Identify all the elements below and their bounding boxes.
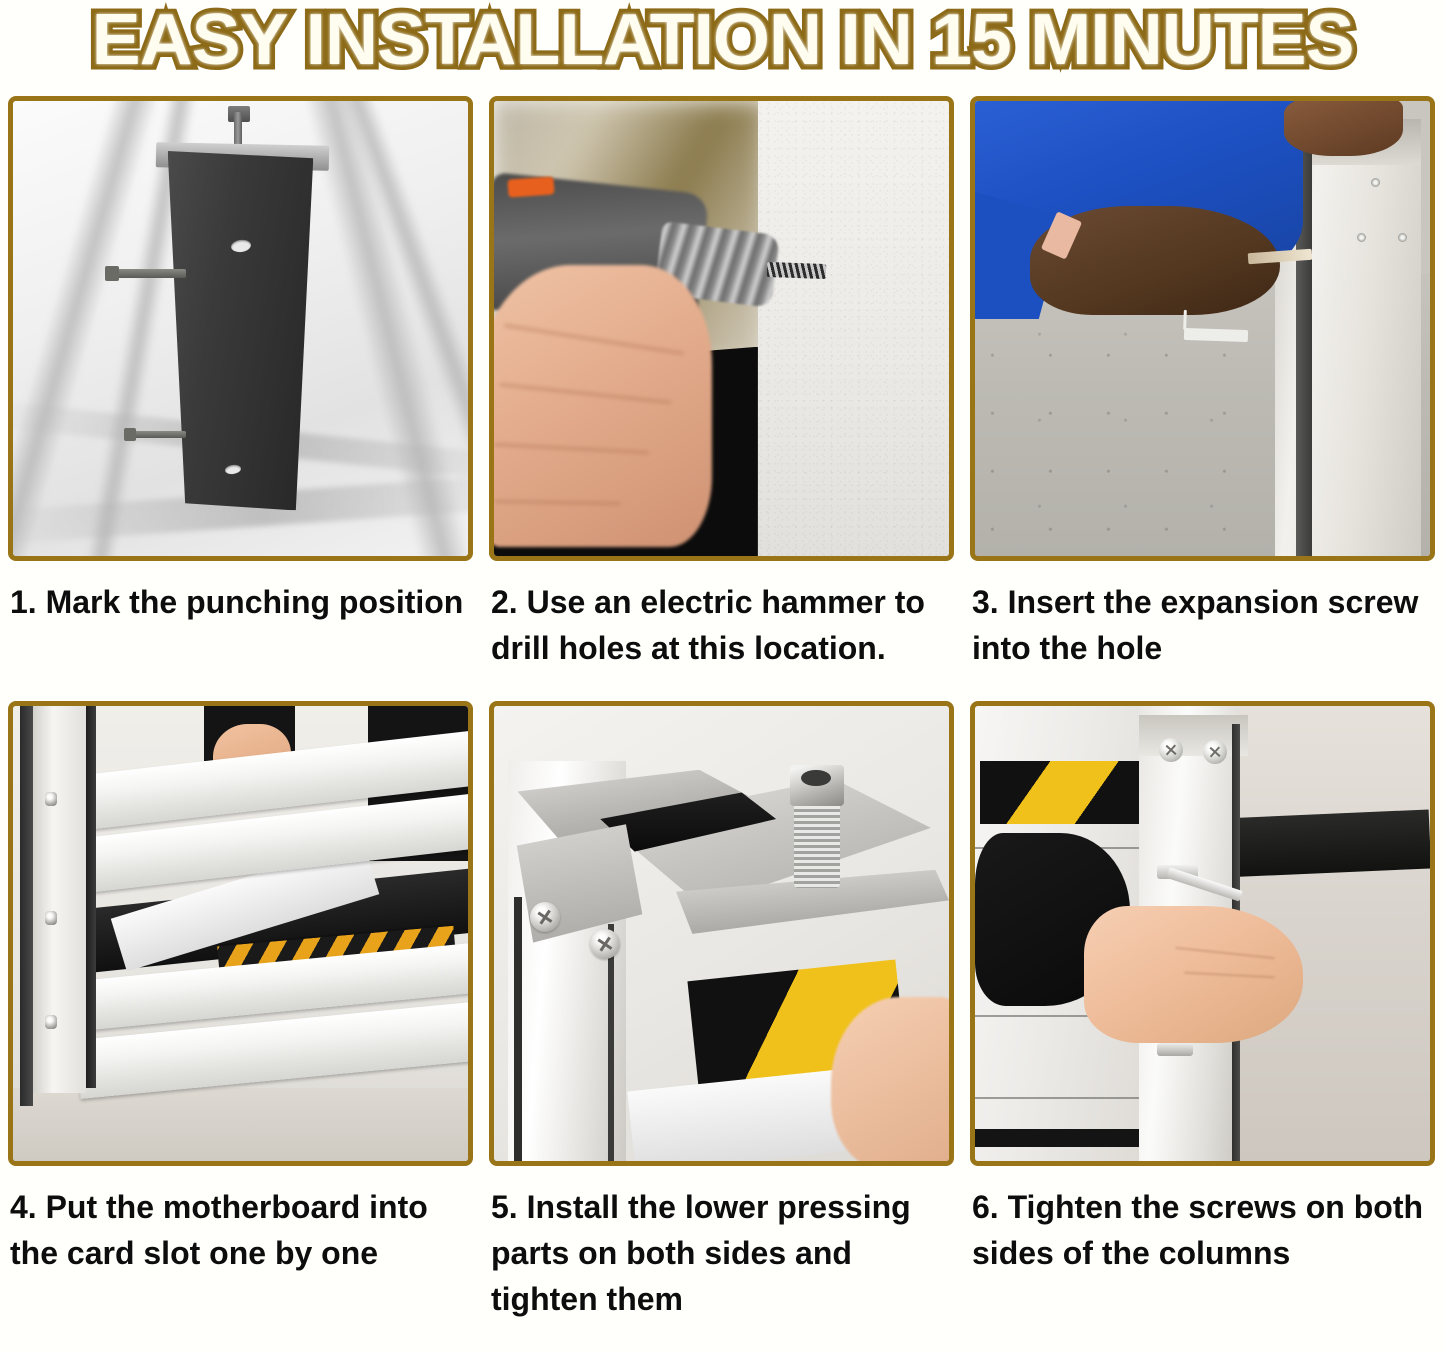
step-photo-3: [970, 96, 1435, 561]
column-edge: [20, 706, 34, 1106]
installation-steps-grid: 1. Mark the punching position: [0, 96, 1445, 1312]
column-edge: [86, 706, 96, 1088]
step-card-5: 5. Install the lower pressing parts on b…: [481, 701, 962, 1312]
photo-marking-position: [13, 101, 468, 556]
step-caption-5: 5. Install the lower pressing parts on b…: [489, 1166, 959, 1312]
photo-boards-into-slot: [13, 706, 468, 1161]
photo-tighten-screws: [975, 706, 1430, 1161]
step-photo-6: [970, 701, 1435, 1166]
column-screw: [45, 911, 57, 925]
wall-surface: [758, 101, 949, 556]
photo-lower-pressing-parts: [494, 706, 949, 1161]
photo-drilling-wall: [494, 101, 949, 556]
card-slot-column: [31, 706, 86, 1093]
step-caption-4: 4. Put the motherboard into the card slo…: [8, 1166, 478, 1312]
phillips-screw: [1159, 738, 1183, 762]
hand: [1284, 101, 1402, 156]
step-card-2: 2. Use an electric hammer to drill holes…: [481, 96, 962, 701]
step-caption-3: 3. Insert the expansion screw into the h…: [970, 561, 1440, 701]
step-photo-1: [8, 96, 473, 561]
phillips-screw: [530, 902, 560, 932]
step-photo-5: [489, 701, 954, 1166]
mounting-column: [168, 151, 314, 510]
column-edge: [514, 897, 521, 1161]
floor: [13, 1088, 468, 1161]
step-caption-6: 6. Tighten the screws on both sides of t…: [970, 1166, 1440, 1312]
hex-bolt-socket: [801, 770, 831, 786]
page-title-bar: EASY INSTALLATION IN 15 MINUTES: [0, 0, 1445, 96]
drill-bit: [767, 261, 827, 278]
panel-seam: [975, 1097, 1157, 1099]
allen-key-on-floor: [1184, 327, 1248, 341]
phillips-screw: [590, 929, 620, 959]
step-photo-4: [8, 701, 473, 1166]
step-caption-2: 2. Use an electric hammer to drill holes…: [489, 561, 959, 701]
step-photo-2: [489, 96, 954, 561]
step-card-6: 6. Tighten the screws on both sides of t…: [962, 701, 1443, 1312]
step-card-1: 1. Mark the punching position: [0, 96, 481, 701]
steps-row-2: 4. Put the motherboard into the card slo…: [0, 701, 1445, 1312]
step-card-4: 4. Put the motherboard into the card slo…: [0, 701, 481, 1312]
step-caption-1: 1. Mark the punching position: [8, 561, 478, 701]
hand: [1084, 906, 1302, 1043]
column-screw: [45, 1015, 57, 1029]
drill-trigger: [507, 177, 554, 198]
dark-base-strip: [975, 1129, 1148, 1147]
phillips-screw: [1203, 740, 1227, 764]
photo-insert-expansion-screw: [975, 101, 1430, 556]
page-title: EASY INSTALLATION IN 15 MINUTES: [92, 2, 1354, 78]
hex-bolt: [1157, 1043, 1193, 1057]
step-card-3: 3. Insert the expansion screw into the h…: [962, 96, 1443, 701]
hazard-stripe: [980, 761, 1144, 825]
expansion-bolt: [113, 269, 186, 278]
steps-row-1: 1. Mark the punching position: [0, 96, 1445, 701]
expansion-bolt: [131, 431, 186, 438]
column-screw: [45, 792, 57, 806]
column-edge: [608, 924, 614, 1161]
